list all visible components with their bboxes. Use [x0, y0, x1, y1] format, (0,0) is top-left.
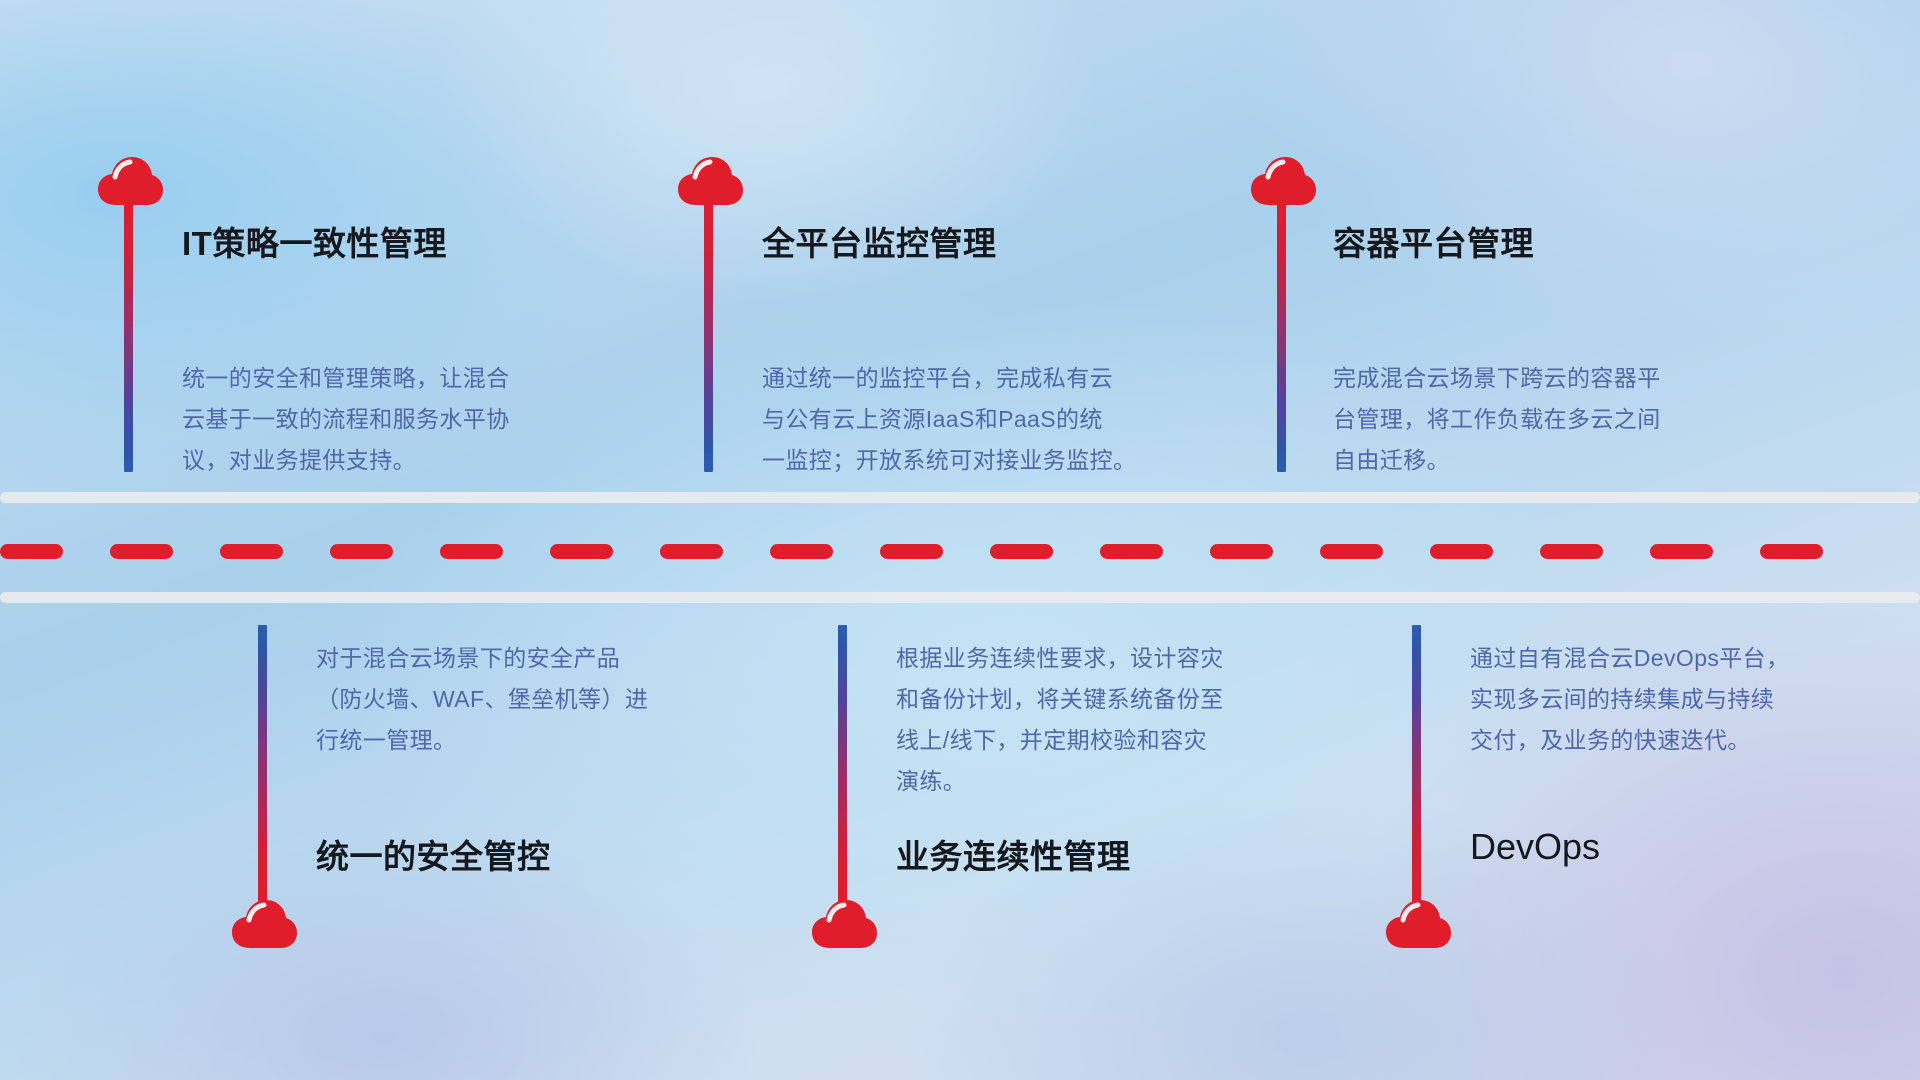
road-line-bottom [0, 592, 1920, 603]
body-line: 统一的安全和管理策略，让混合 [182, 358, 612, 399]
body-line: 和备份计划，将关键系统备份至 [896, 679, 1316, 720]
body-line: 实现多云间的持续集成与持续 [1470, 679, 1870, 720]
infographic-canvas: IT策略一致性管理 统一的安全和管理策略，让混合 云基于一致的流程和服务水平协 … [0, 0, 1920, 1080]
road-dash-segment [550, 544, 613, 559]
timeline-stem [124, 192, 133, 472]
road-dash-segment [220, 544, 283, 559]
body-line: （防火墙、WAF、堡垒机等）进 [316, 679, 736, 720]
heading-container-platform: 容器平台管理 [1333, 217, 1534, 265]
road-dash-segment [1430, 544, 1493, 559]
timeline-stem [838, 625, 847, 910]
road-dash-segment [1210, 544, 1273, 559]
body-line: 一监控；开放系统可对接业务监控。 [762, 440, 1202, 481]
road-center-dashes [0, 544, 1920, 559]
body-it-policy-consistency: 统一的安全和管理策略，让混合 云基于一致的流程和服务水平协 议，对业务提供支持。 [182, 358, 612, 481]
road-dash-segment [1100, 544, 1163, 559]
road-dash-segment [0, 544, 63, 559]
body-line: 交付，及业务的快速迭代。 [1470, 720, 1870, 761]
road-dash-segment [1760, 544, 1823, 559]
body-line: 议，对业务提供支持。 [182, 440, 612, 481]
road-line-top [0, 492, 1920, 503]
cloud-icon [1384, 898, 1452, 950]
heading-business-continuity: 业务连续性管理 [896, 830, 1131, 878]
body-line: 自由迁移。 [1333, 440, 1773, 481]
road-dash-segment [1650, 544, 1713, 559]
body-line: 根据业务连续性要求，设计容灾 [896, 638, 1316, 679]
timeline-stem [1412, 625, 1421, 910]
body-container-platform: 完成混合云场景下跨云的容器平 台管理，将工作负载在多云之间 自由迁移。 [1333, 358, 1773, 481]
cloud-icon [230, 898, 298, 950]
road-dash-segment [880, 544, 943, 559]
road-dash-segment [330, 544, 393, 559]
timeline-stem [704, 192, 713, 472]
road-dash-segment [110, 544, 173, 559]
timeline-stem [1277, 192, 1286, 472]
body-line: 行统一管理。 [316, 720, 736, 761]
heading-full-platform-monitoring: 全平台监控管理 [762, 217, 997, 265]
timeline-stem [258, 625, 267, 910]
road-dash-segment [990, 544, 1053, 559]
body-unified-security: 对于混合云场景下的安全产品 （防火墙、WAF、堡垒机等）进 行统一管理。 [316, 638, 736, 761]
road-dash-segment [440, 544, 503, 559]
body-line: 完成混合云场景下跨云的容器平 [1333, 358, 1773, 399]
cloud-icon [810, 898, 878, 950]
body-full-platform-monitoring: 通过统一的监控平台，完成私有云 与公有云上资源IaaS和PaaS的统 一监控；开… [762, 358, 1202, 481]
road-dash-segment [770, 544, 833, 559]
heading-unified-security: 统一的安全管控 [316, 830, 551, 878]
body-line: 线上/线下，并定期校验和容灾 [896, 720, 1316, 761]
body-line: 通过统一的监控平台，完成私有云 [762, 358, 1202, 399]
body-business-continuity: 根据业务连续性要求，设计容灾 和备份计划，将关键系统备份至 线上/线下，并定期校… [896, 638, 1316, 802]
road-dash-segment [660, 544, 723, 559]
heading-it-policy-consistency: IT策略一致性管理 [182, 217, 447, 265]
heading-devops: DevOps [1470, 826, 1600, 868]
body-line: 台管理，将工作负载在多云之间 [1333, 399, 1773, 440]
body-line: 云基于一致的流程和服务水平协 [182, 399, 612, 440]
body-line: 通过自有混合云DevOps平台， [1470, 638, 1870, 679]
body-devops: 通过自有混合云DevOps平台， 实现多云间的持续集成与持续 交付，及业务的快速… [1470, 638, 1870, 761]
body-line: 演练。 [896, 761, 1316, 802]
road-dash-segment [1540, 544, 1603, 559]
body-line: 对于混合云场景下的安全产品 [316, 638, 736, 679]
body-line: 与公有云上资源IaaS和PaaS的统 [762, 399, 1202, 440]
road-dash-segment [1320, 544, 1383, 559]
